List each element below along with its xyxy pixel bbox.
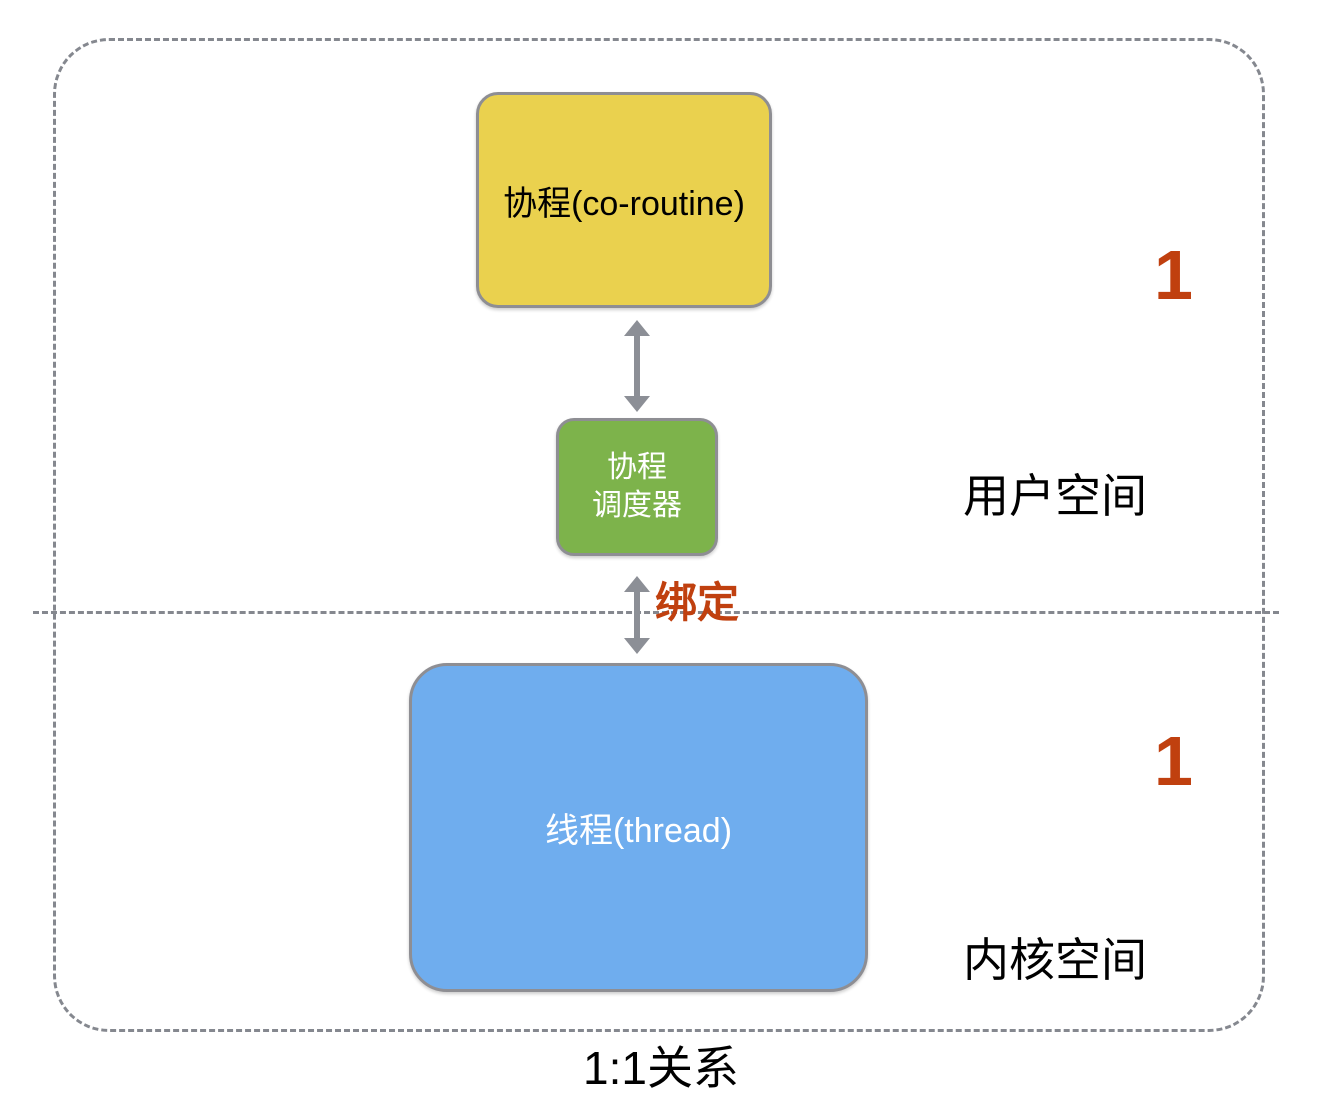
- node-scheduler-label-line2: 调度器: [592, 489, 682, 522]
- diagram-canvas: 协程(co-routine) 协程 调度器 绑定 线程(thread) 1 用户…: [0, 0, 1322, 1112]
- node-thread[interactable]: 线程(thread): [409, 663, 868, 992]
- node-thread-label: 线程(thread): [545, 803, 732, 852]
- arrow-head-down-icon: [624, 396, 650, 412]
- node-coroutine[interactable]: 协程(co-routine): [476, 92, 772, 308]
- arrow-shaft: [634, 332, 640, 400]
- node-coroutine-label: 协程(co-routine): [503, 176, 745, 225]
- arrow-head-down-icon: [624, 638, 650, 654]
- node-scheduler-label-line1: 协程: [607, 451, 667, 484]
- user-space-count: 1: [1154, 240, 1193, 310]
- kernel-space-count: 1: [1154, 726, 1193, 796]
- node-scheduler[interactable]: 协程 调度器: [556, 418, 718, 556]
- arrow-shaft: [634, 588, 640, 642]
- arrow-coroutine-scheduler: [624, 320, 650, 412]
- arrow-scheduler-thread: [624, 576, 650, 654]
- node-scheduler-label: 协程 调度器: [592, 449, 682, 526]
- diagram-caption: 1:1关系: [0, 1045, 1322, 1091]
- kernel-space-label: 内核空间: [963, 937, 1147, 983]
- binding-label: 绑定: [655, 582, 739, 624]
- user-space-label: 用户空间: [963, 473, 1147, 519]
